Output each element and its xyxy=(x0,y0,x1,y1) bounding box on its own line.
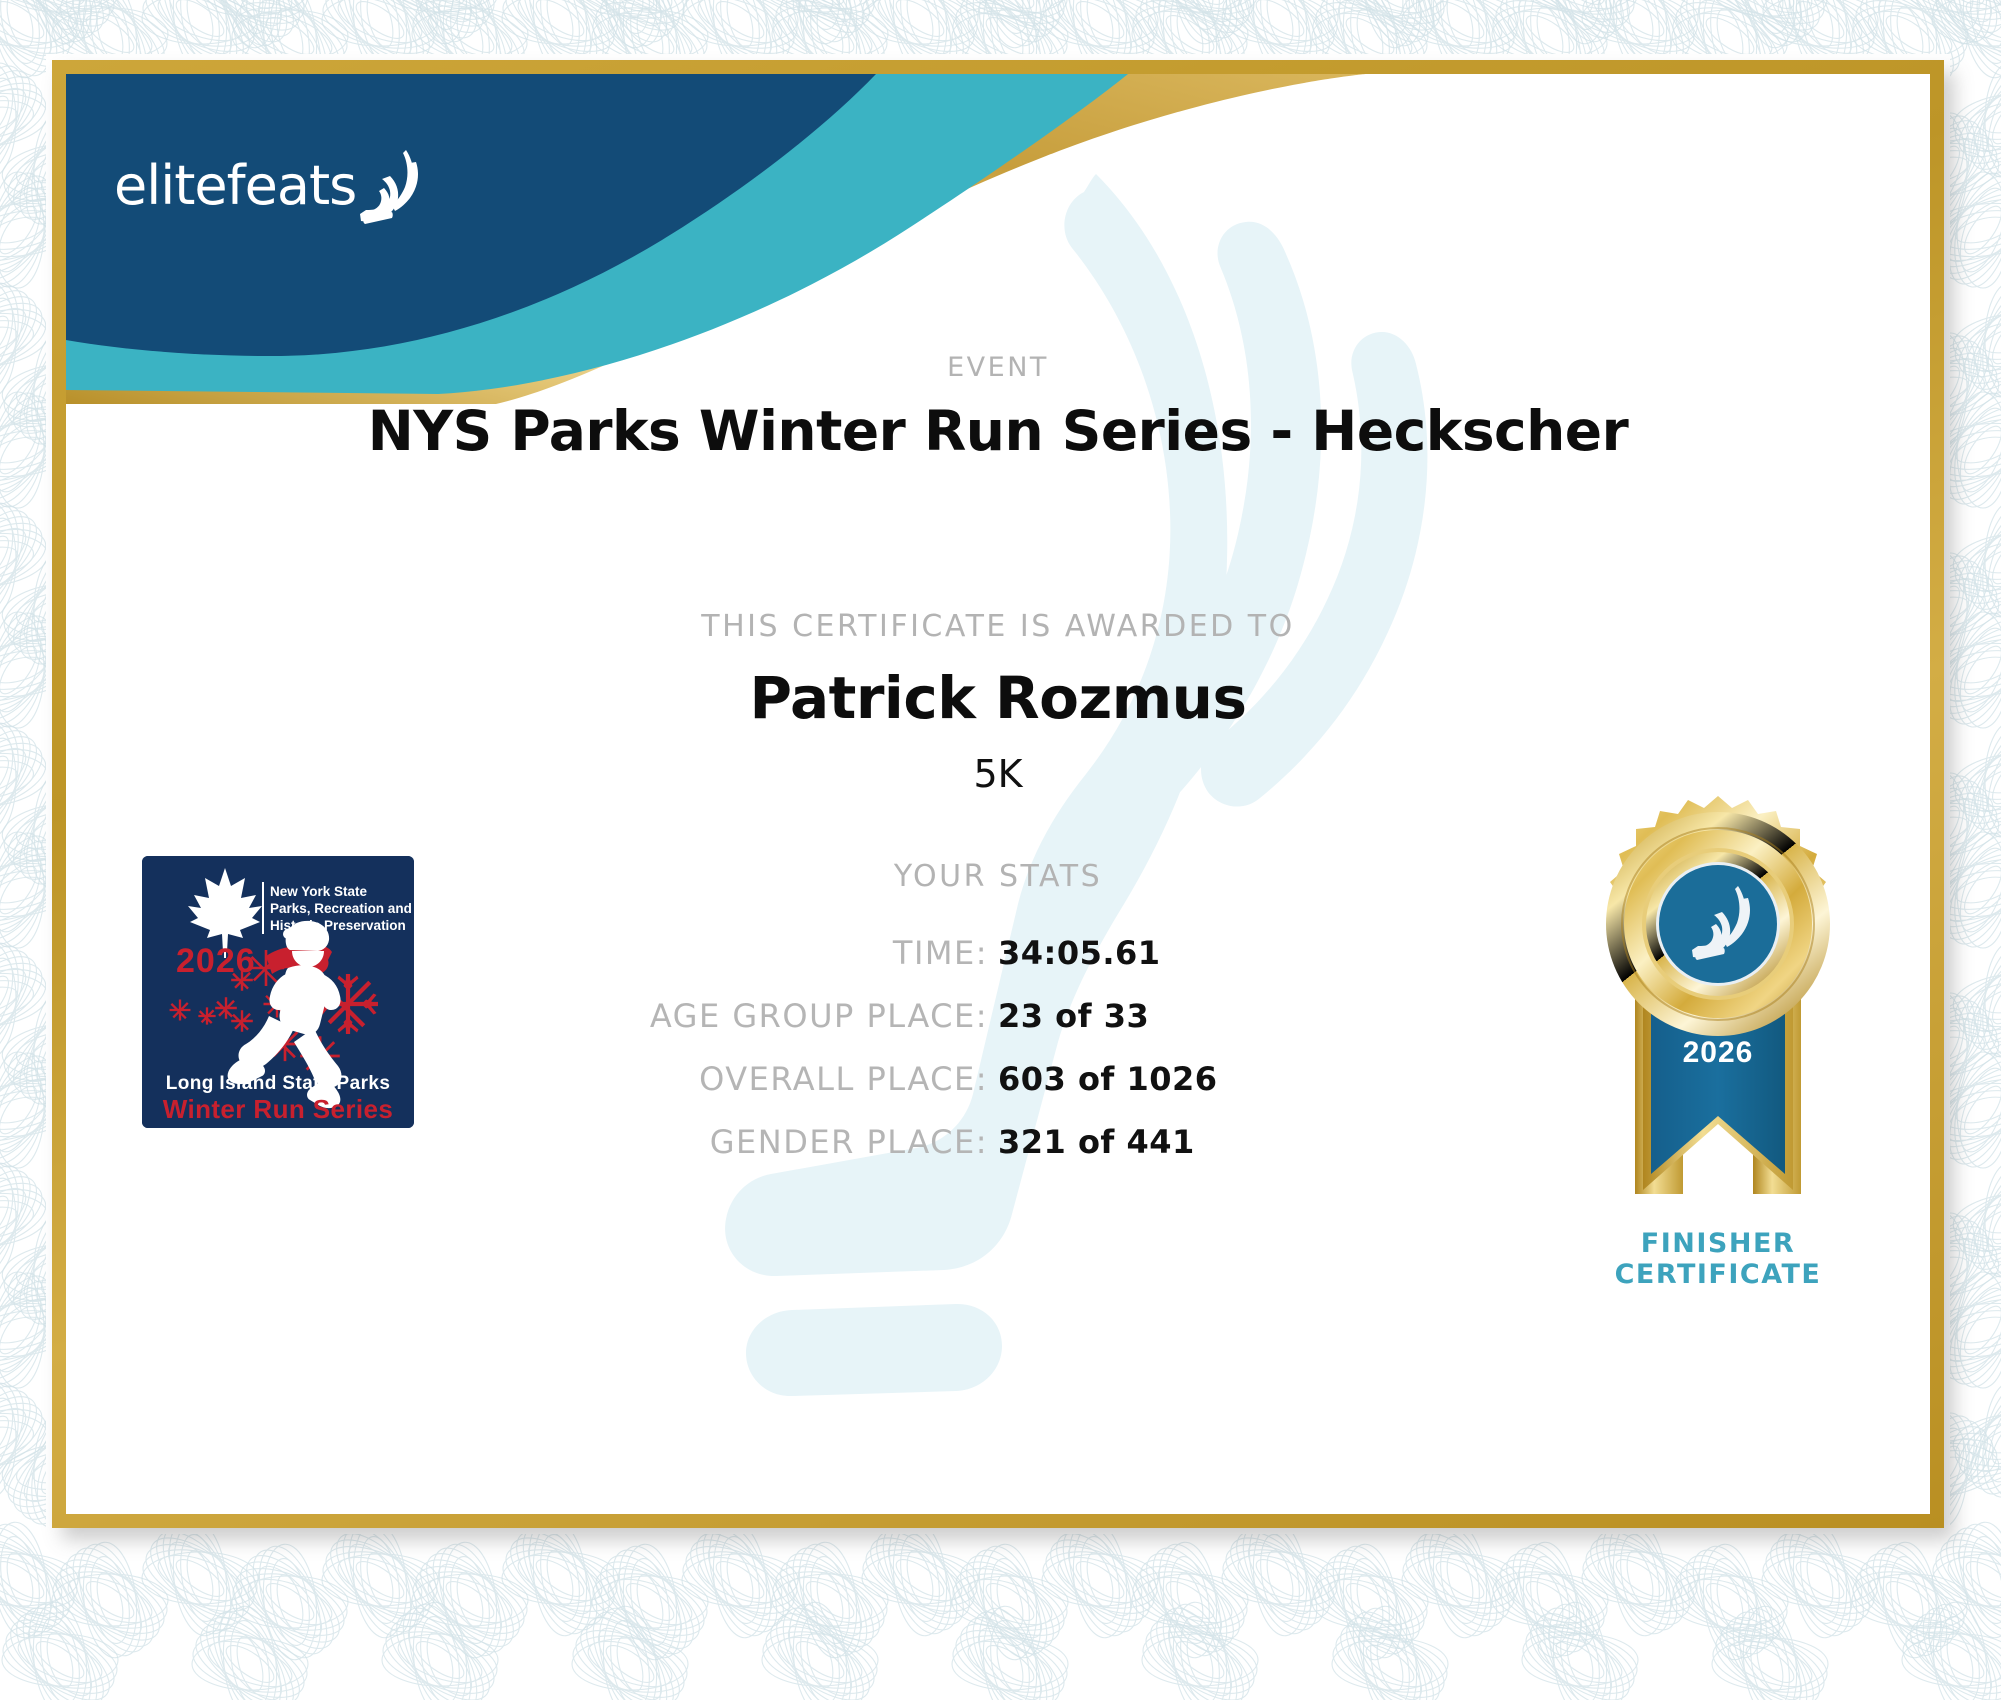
elitefeats-logo: elitefeats xyxy=(114,136,474,236)
stat-value-age-group-place: 23 of 33 xyxy=(998,997,1598,1035)
race-distance: 5K xyxy=(66,752,1930,796)
finisher-certificate-caption: FINISHER CERTIFICATE xyxy=(1568,1228,1868,1290)
badge-series-line1: Long Island State Parks xyxy=(166,1073,391,1094)
stat-key-overall-place: OVERALL PLACE: xyxy=(398,1060,998,1098)
badge-agency-line1: New York State xyxy=(270,884,368,899)
event-series-logo-badge: New York State Parks, Recreation and His… xyxy=(142,856,414,1128)
elitefeats-winged-foot-icon xyxy=(360,148,428,226)
elitefeats-wordmark: elitefeats xyxy=(114,159,356,213)
stat-value-gender-place: 321 of 441 xyxy=(998,1123,1598,1161)
medal-ribbon-year: 2026 xyxy=(1683,1036,1754,1069)
stat-key-gender-place: GENDER PLACE: xyxy=(398,1123,998,1161)
badge-year: 2026 xyxy=(176,942,256,980)
certificate-page: elitefeats EVENT NYS Parks Winter Run Se… xyxy=(0,0,2001,1700)
awarded-to-label: THIS CERTIFICATE IS AWARDED TO xyxy=(66,609,1930,644)
finisher-medal-group: 2026 xyxy=(1568,794,1868,1294)
stat-key-age-group-place: AGE GROUP PLACE: xyxy=(398,997,998,1035)
recipient-name: Patrick Rozmus xyxy=(66,664,1930,732)
stat-value-time: 34:05.61 xyxy=(998,934,1598,972)
badge-series-line2: Winter Run Series xyxy=(163,1094,394,1124)
certificate-gold-frame: elitefeats EVENT NYS Parks Winter Run Se… xyxy=(52,60,1944,1528)
certificate-paper: elitefeats EVENT NYS Parks Winter Run Se… xyxy=(66,74,1930,1514)
finisher-caption-line1: FINISHER xyxy=(1568,1228,1868,1259)
gold-rosette-medal-icon: 2026 xyxy=(1573,794,1863,1224)
stat-value-overall-place: 603 of 1026 xyxy=(998,1060,1598,1098)
event-title: NYS Parks Winter Run Series - Heckscher xyxy=(66,399,1930,463)
stat-key-time: TIME: xyxy=(398,934,998,972)
finisher-caption-line2: CERTIFICATE xyxy=(1568,1259,1868,1290)
svg-text:Parks, Recreation and: Parks, Recreation and xyxy=(270,901,412,916)
event-label: EVENT xyxy=(66,352,1930,383)
